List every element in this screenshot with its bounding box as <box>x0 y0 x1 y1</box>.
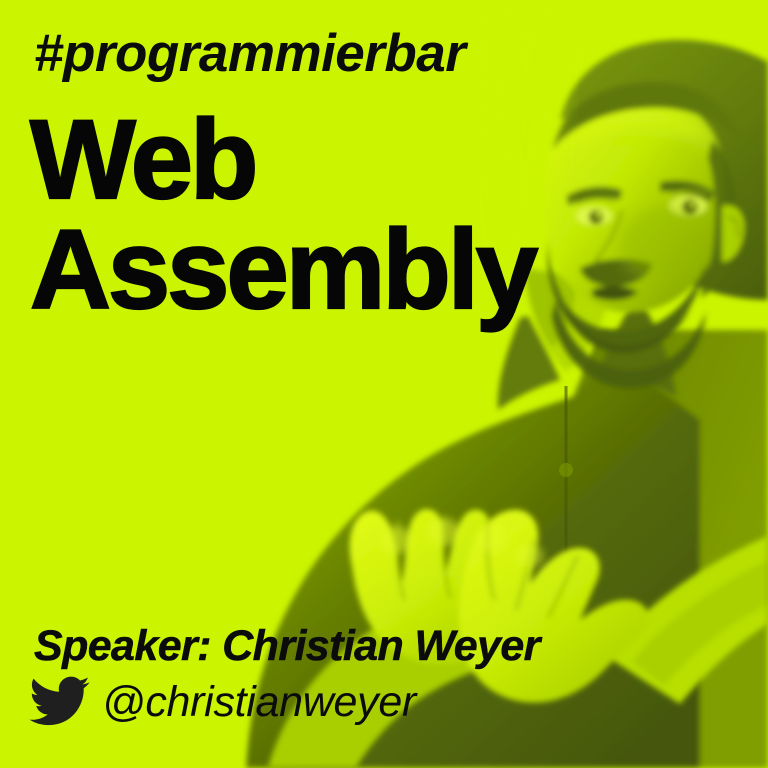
speaker-twitter-handle: @christianweyer <box>102 681 416 724</box>
podcast-hashtag: #programmierbar <box>34 27 465 80</box>
poster-text-layer: #programmierbar Web Assembly Speaker: Ch… <box>0 0 768 768</box>
podcast-episode-poster: #programmierbar Web Assembly Speaker: Ch… <box>0 0 768 768</box>
page-title: Web Assembly <box>30 105 535 325</box>
speaker-name-label: Speaker: Christian Weyer <box>34 625 540 668</box>
speaker-social-row: @christianweyer <box>28 676 416 728</box>
twitter-bird-icon <box>28 676 90 728</box>
